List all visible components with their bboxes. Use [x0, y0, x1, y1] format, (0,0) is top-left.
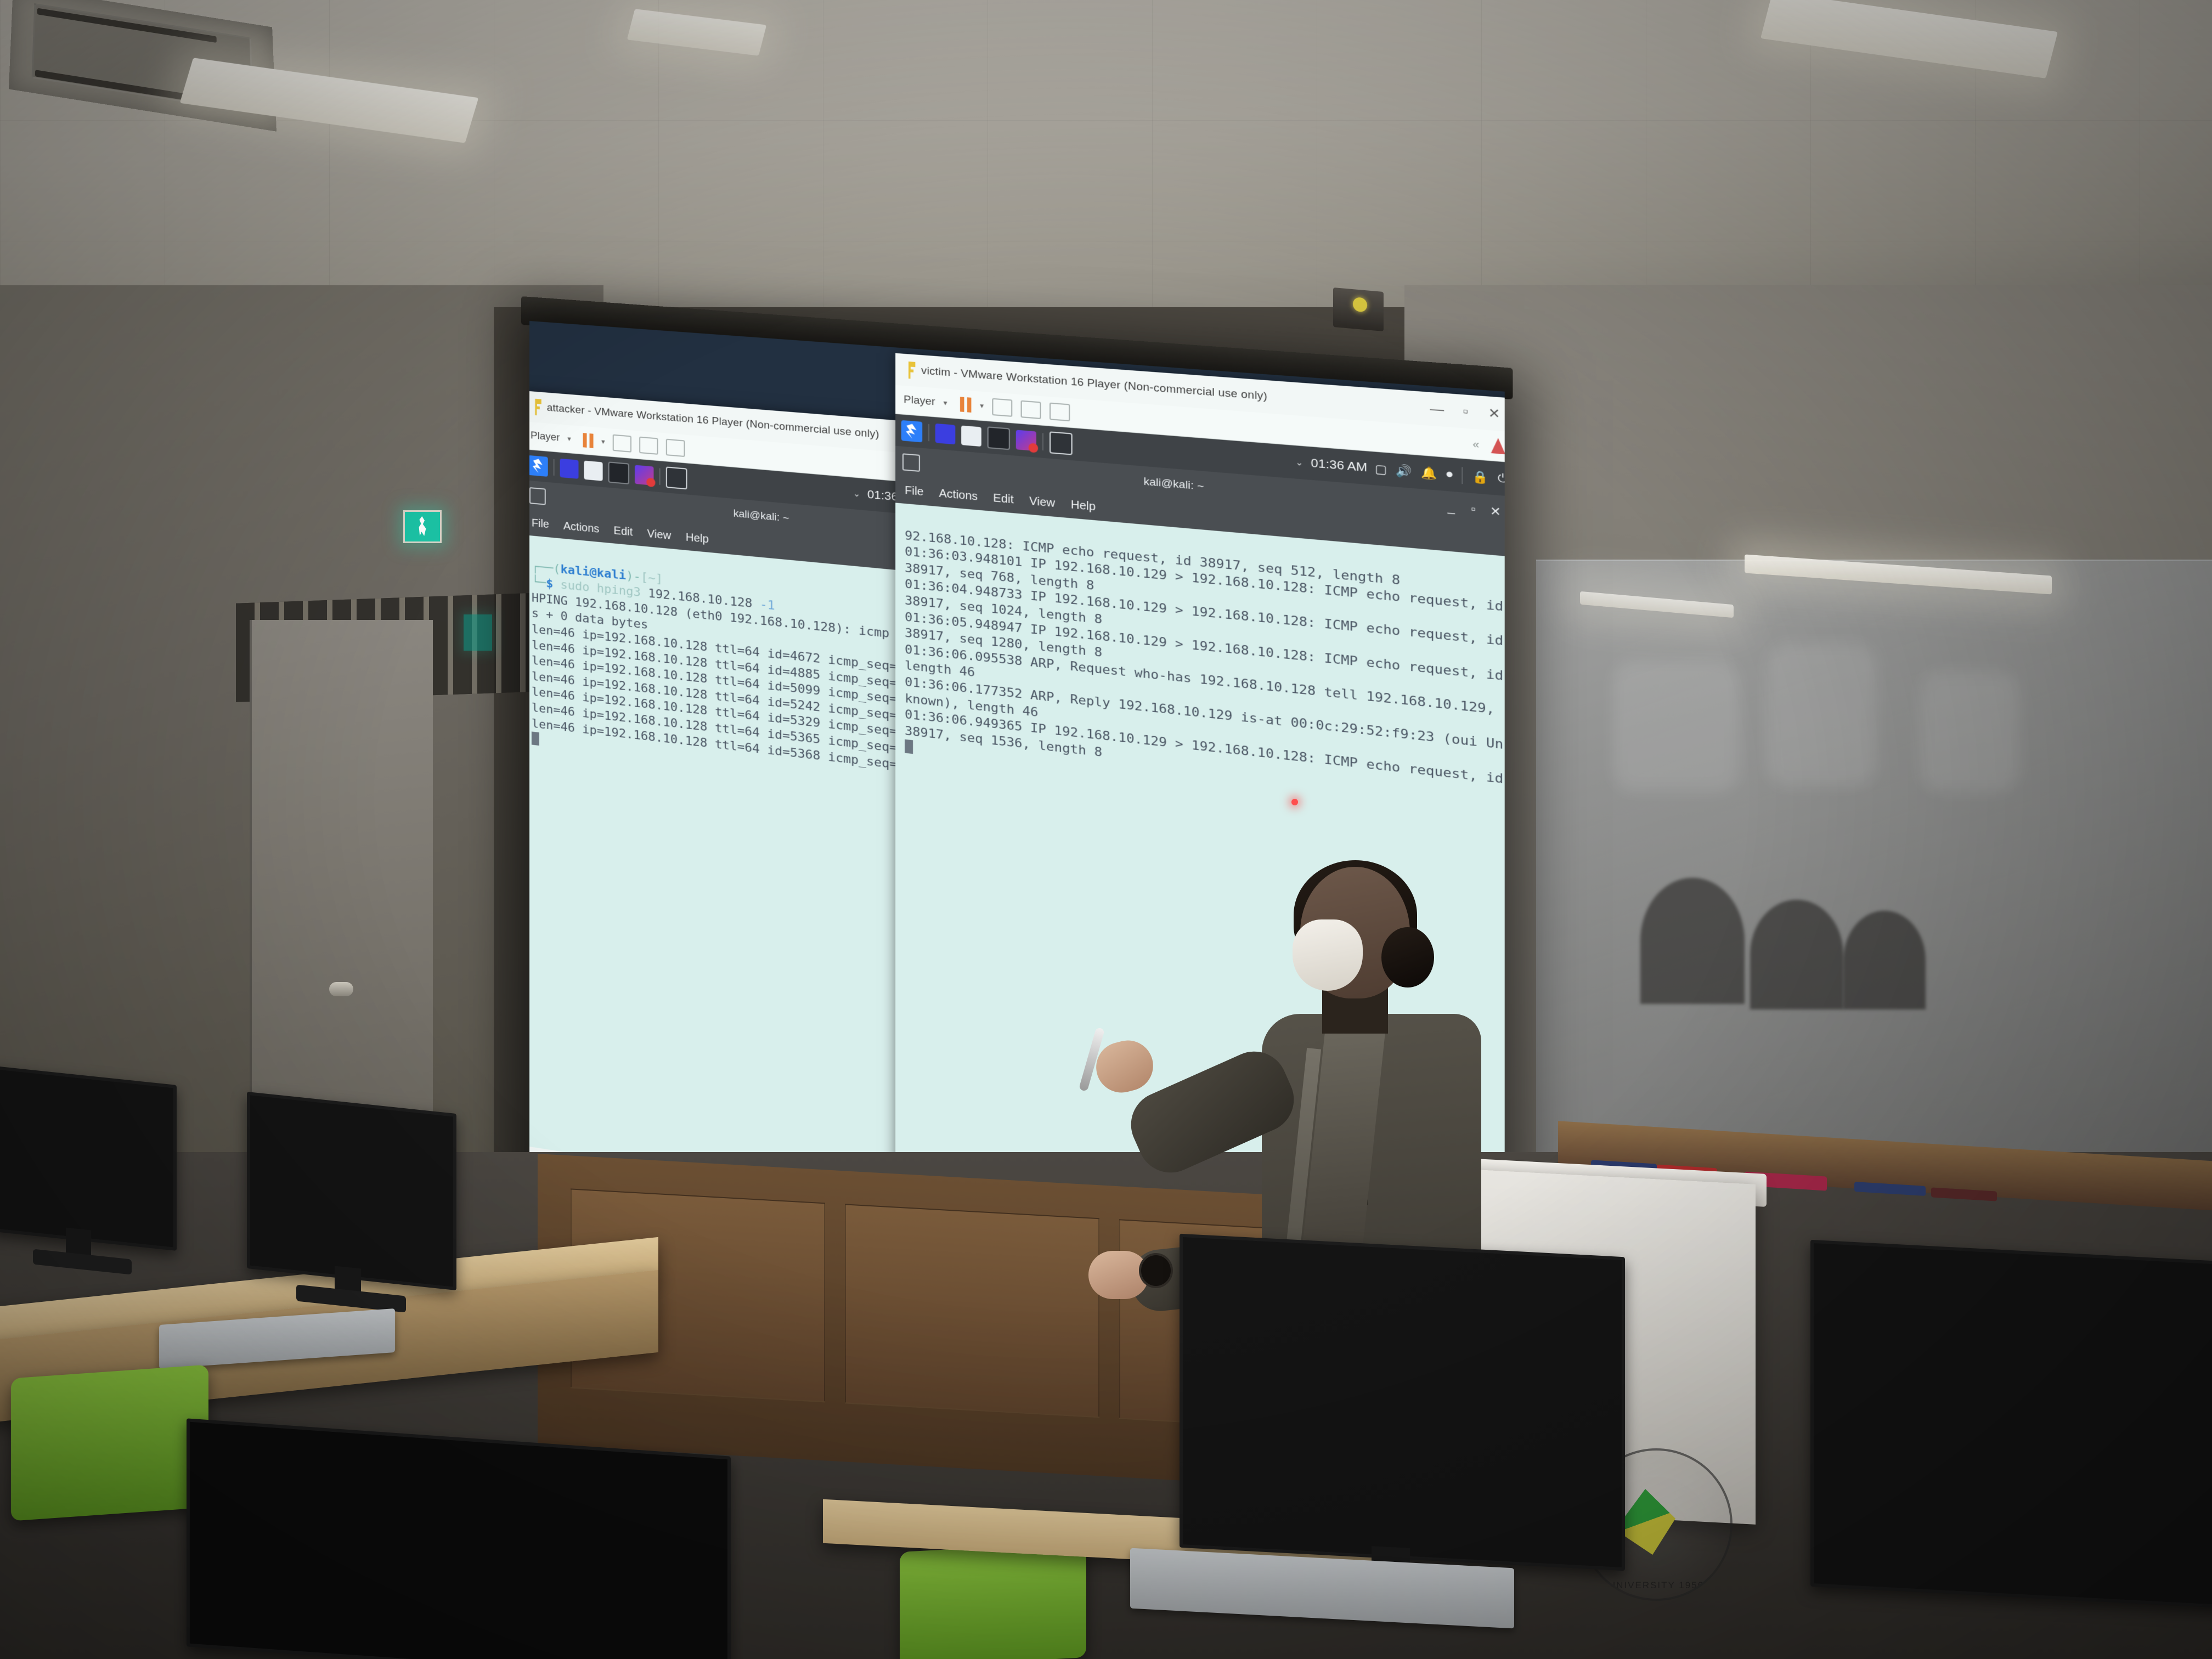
- prompt-symbol: $: [546, 577, 553, 591]
- minimize-button[interactable]: _: [1440, 500, 1462, 515]
- student-monitor: [247, 1092, 456, 1290]
- menu-actions[interactable]: Actions: [563, 520, 600, 535]
- clock[interactable]: 01:36 AM: [1311, 456, 1367, 475]
- player-menu[interactable]: Player: [531, 430, 560, 444]
- volume-icon[interactable]: 🔊: [1396, 462, 1412, 479]
- command-tool: hping3: [597, 582, 641, 600]
- vmware-key-icon: [531, 398, 541, 416]
- chevron-down-icon[interactable]: ▾: [601, 437, 605, 447]
- emergency-exit-sign: [464, 614, 492, 651]
- prompt-path: [~]: [641, 570, 663, 586]
- command-flag: -1: [760, 597, 775, 613]
- browser-icon[interactable]: [988, 426, 1010, 450]
- send-ctrl-alt-del-icon[interactable]: [613, 435, 631, 453]
- chevron-down-icon[interactable]: ⌄: [1295, 457, 1303, 469]
- close-button[interactable]: ✕: [1483, 405, 1504, 422]
- glass-partition: [1536, 560, 2212, 1154]
- terminal-icon[interactable]: [961, 426, 981, 447]
- student-monitor: [187, 1418, 731, 1659]
- classroom-scene: attacker - VMware Workstation 16 Player …: [0, 0, 2212, 1659]
- terminal-window-icon: [529, 487, 546, 505]
- lock-icon[interactable]: 🔒: [1472, 469, 1489, 486]
- kali-menu-icon[interactable]: [529, 455, 548, 477]
- burp-icon[interactable]: [635, 465, 653, 486]
- full-screen-icon[interactable]: [666, 439, 685, 457]
- student-monitor: [0, 1065, 177, 1251]
- player-menu[interactable]: Player: [904, 393, 935, 408]
- projector-screen-mount: [1333, 287, 1384, 331]
- files-icon[interactable]: [935, 424, 956, 444]
- browser-icon[interactable]: [608, 461, 629, 484]
- menu-view[interactable]: View: [1029, 495, 1055, 510]
- files-icon[interactable]: [560, 459, 579, 479]
- maximize-button[interactable]: ▫: [1462, 501, 1484, 517]
- terminal-window-icon: [902, 453, 920, 472]
- terminal-icon[interactable]: [584, 461, 603, 481]
- full-screen-icon[interactable]: [1049, 403, 1070, 422]
- chevron-down-icon[interactable]: ▾: [944, 398, 947, 408]
- laser-pointer-dot: [1291, 799, 1298, 805]
- vm-icon[interactable]: [1049, 431, 1073, 455]
- menu-edit[interactable]: Edit: [993, 492, 1013, 506]
- kali-menu-icon[interactable]: [901, 420, 922, 442]
- menu-file[interactable]: File: [532, 517, 549, 531]
- door-handle[interactable]: [329, 982, 353, 996]
- student-chair[interactable]: [11, 1364, 208, 1521]
- send-ctrl-alt-del-icon[interactable]: [992, 398, 1012, 417]
- menu-edit[interactable]: Edit: [614, 524, 633, 539]
- presenter-hair-bun: [1381, 927, 1434, 988]
- menu-actions[interactable]: Actions: [939, 487, 978, 503]
- burp-icon[interactable]: [1016, 430, 1036, 452]
- emergency-exit-sign: [403, 510, 442, 543]
- student-monitor: [1180, 1234, 1625, 1571]
- vmware-logo-icon: [1491, 438, 1505, 455]
- pause-vm-icon[interactable]: [960, 397, 972, 413]
- chevron-down-icon[interactable]: ⌄: [853, 488, 860, 499]
- unity-mode-icon[interactable]: [639, 437, 658, 455]
- maximize-button[interactable]: ▫: [1454, 403, 1476, 420]
- menu-help[interactable]: Help: [1071, 498, 1096, 513]
- vm-icon[interactable]: [666, 466, 687, 489]
- menu-help[interactable]: Help: [686, 531, 709, 546]
- bell-icon[interactable]: 🔔: [1421, 465, 1437, 481]
- student-monitor: [1810, 1240, 2212, 1609]
- terminal-cursor: [905, 740, 913, 754]
- minimize-button[interactable]: —: [1426, 401, 1448, 418]
- unity-mode-icon[interactable]: [1020, 400, 1041, 419]
- logout-icon[interactable]: ⏻: [1498, 471, 1505, 486]
- face-mask: [1293, 919, 1363, 991]
- chevron-down-icon[interactable]: ▾: [980, 401, 984, 410]
- audience-silhouette: [1640, 878, 1745, 1004]
- network-icon[interactable]: ⏺: [1446, 467, 1453, 482]
- close-button[interactable]: ✕: [1485, 503, 1505, 520]
- pause-vm-icon[interactable]: [583, 433, 594, 448]
- chevron-down-icon[interactable]: ▾: [567, 435, 571, 444]
- crest-label: UNIVERSITY 1956: [1582, 1580, 1730, 1591]
- classroom-door[interactable]: [250, 620, 433, 1114]
- collapse-toolbar-icon[interactable]: «: [1472, 438, 1479, 451]
- command-sudo: sudo: [561, 578, 590, 595]
- menu-file[interactable]: File: [905, 484, 923, 499]
- terminal-cursor: [532, 732, 539, 746]
- workspace-icon[interactable]: ▢: [1375, 461, 1387, 477]
- counter-panel: [845, 1204, 1099, 1418]
- vmware-key-icon: [904, 361, 915, 379]
- audience-silhouette: [1750, 900, 1843, 1009]
- wristwatch: [1139, 1253, 1173, 1288]
- menu-view[interactable]: View: [647, 527, 672, 542]
- student-chair[interactable]: [900, 1542, 1086, 1659]
- audience-silhouette: [1843, 911, 1926, 1009]
